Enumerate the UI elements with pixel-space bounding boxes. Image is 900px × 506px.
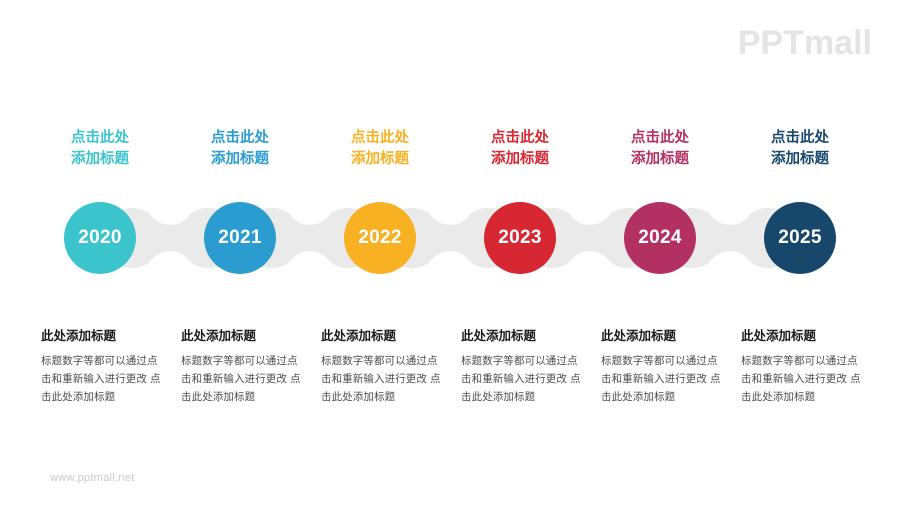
step-year-circle[interactable]: 2023 [484, 202, 556, 274]
step-bottom-heading: 此处添加标题 [741, 328, 867, 344]
step-description-block: 此处添加标题标题数字等都可以通过点击和重新输入进行更改 点击此处添加标题 [41, 328, 167, 406]
step-bottom-body: 标题数字等都可以通过点击和重新输入进行更改 点击此处添加标题 [601, 352, 727, 406]
step-bottom-heading: 此处添加标题 [601, 328, 727, 344]
footer-url: www.pptmall.net [50, 472, 135, 484]
step-year-circle[interactable]: 2022 [344, 202, 416, 274]
timeline-diagram: 点击此处 添加标题2020此处添加标题标题数字等都可以通过点击和重新输入进行更改… [30, 120, 870, 440]
step-year-circle[interactable]: 2025 [764, 202, 836, 274]
step-top-title: 点击此处 添加标题 [170, 128, 310, 169]
step-bottom-body: 标题数字等都可以通过点击和重新输入进行更改 点击此处添加标题 [41, 352, 167, 406]
step-bottom-heading: 此处添加标题 [321, 328, 447, 344]
timeline-step: 点击此处 添加标题2020此处添加标题标题数字等都可以通过点击和重新输入进行更改… [30, 120, 170, 440]
step-top-title: 点击此处 添加标题 [310, 128, 450, 169]
step-description-block: 此处添加标题标题数字等都可以通过点击和重新输入进行更改 点击此处添加标题 [321, 328, 447, 406]
step-top-title: 点击此处 添加标题 [30, 128, 170, 169]
step-bottom-body: 标题数字等都可以通过点击和重新输入进行更改 点击此处添加标题 [321, 352, 447, 406]
step-bottom-heading: 此处添加标题 [461, 328, 587, 344]
step-top-title: 点击此处 添加标题 [450, 128, 590, 169]
step-bottom-heading: 此处添加标题 [41, 328, 167, 344]
timeline-step: 点击此处 添加标题2025此处添加标题标题数字等都可以通过点击和重新输入进行更改… [730, 120, 870, 440]
step-bottom-body: 标题数字等都可以通过点击和重新输入进行更改 点击此处添加标题 [181, 352, 307, 406]
step-description-block: 此处添加标题标题数字等都可以通过点击和重新输入进行更改 点击此处添加标题 [601, 328, 727, 406]
step-bottom-heading: 此处添加标题 [181, 328, 307, 344]
step-year-circle[interactable]: 2020 [64, 202, 136, 274]
step-description-block: 此处添加标题标题数字等都可以通过点击和重新输入进行更改 点击此处添加标题 [741, 328, 867, 406]
timeline-step: 点击此处 添加标题2023此处添加标题标题数字等都可以通过点击和重新输入进行更改… [450, 120, 590, 440]
timeline-step: 点击此处 添加标题2024此处添加标题标题数字等都可以通过点击和重新输入进行更改… [590, 120, 730, 440]
timeline-step: 点击此处 添加标题2021此处添加标题标题数字等都可以通过点击和重新输入进行更改… [170, 120, 310, 440]
step-description-block: 此处添加标题标题数字等都可以通过点击和重新输入进行更改 点击此处添加标题 [461, 328, 587, 406]
step-top-title: 点击此处 添加标题 [730, 128, 870, 169]
step-year-circle[interactable]: 2021 [204, 202, 276, 274]
timeline-columns: 点击此处 添加标题2020此处添加标题标题数字等都可以通过点击和重新输入进行更改… [30, 120, 870, 440]
step-bottom-body: 标题数字等都可以通过点击和重新输入进行更改 点击此处添加标题 [461, 352, 587, 406]
timeline-step: 点击此处 添加标题2022此处添加标题标题数字等都可以通过点击和重新输入进行更改… [310, 120, 450, 440]
step-description-block: 此处添加标题标题数字等都可以通过点击和重新输入进行更改 点击此处添加标题 [181, 328, 307, 406]
step-bottom-body: 标题数字等都可以通过点击和重新输入进行更改 点击此处添加标题 [741, 352, 867, 406]
step-year-circle[interactable]: 2024 [624, 202, 696, 274]
step-top-title: 点击此处 添加标题 [590, 128, 730, 169]
pptmall-logo: PPTmall [738, 26, 872, 60]
